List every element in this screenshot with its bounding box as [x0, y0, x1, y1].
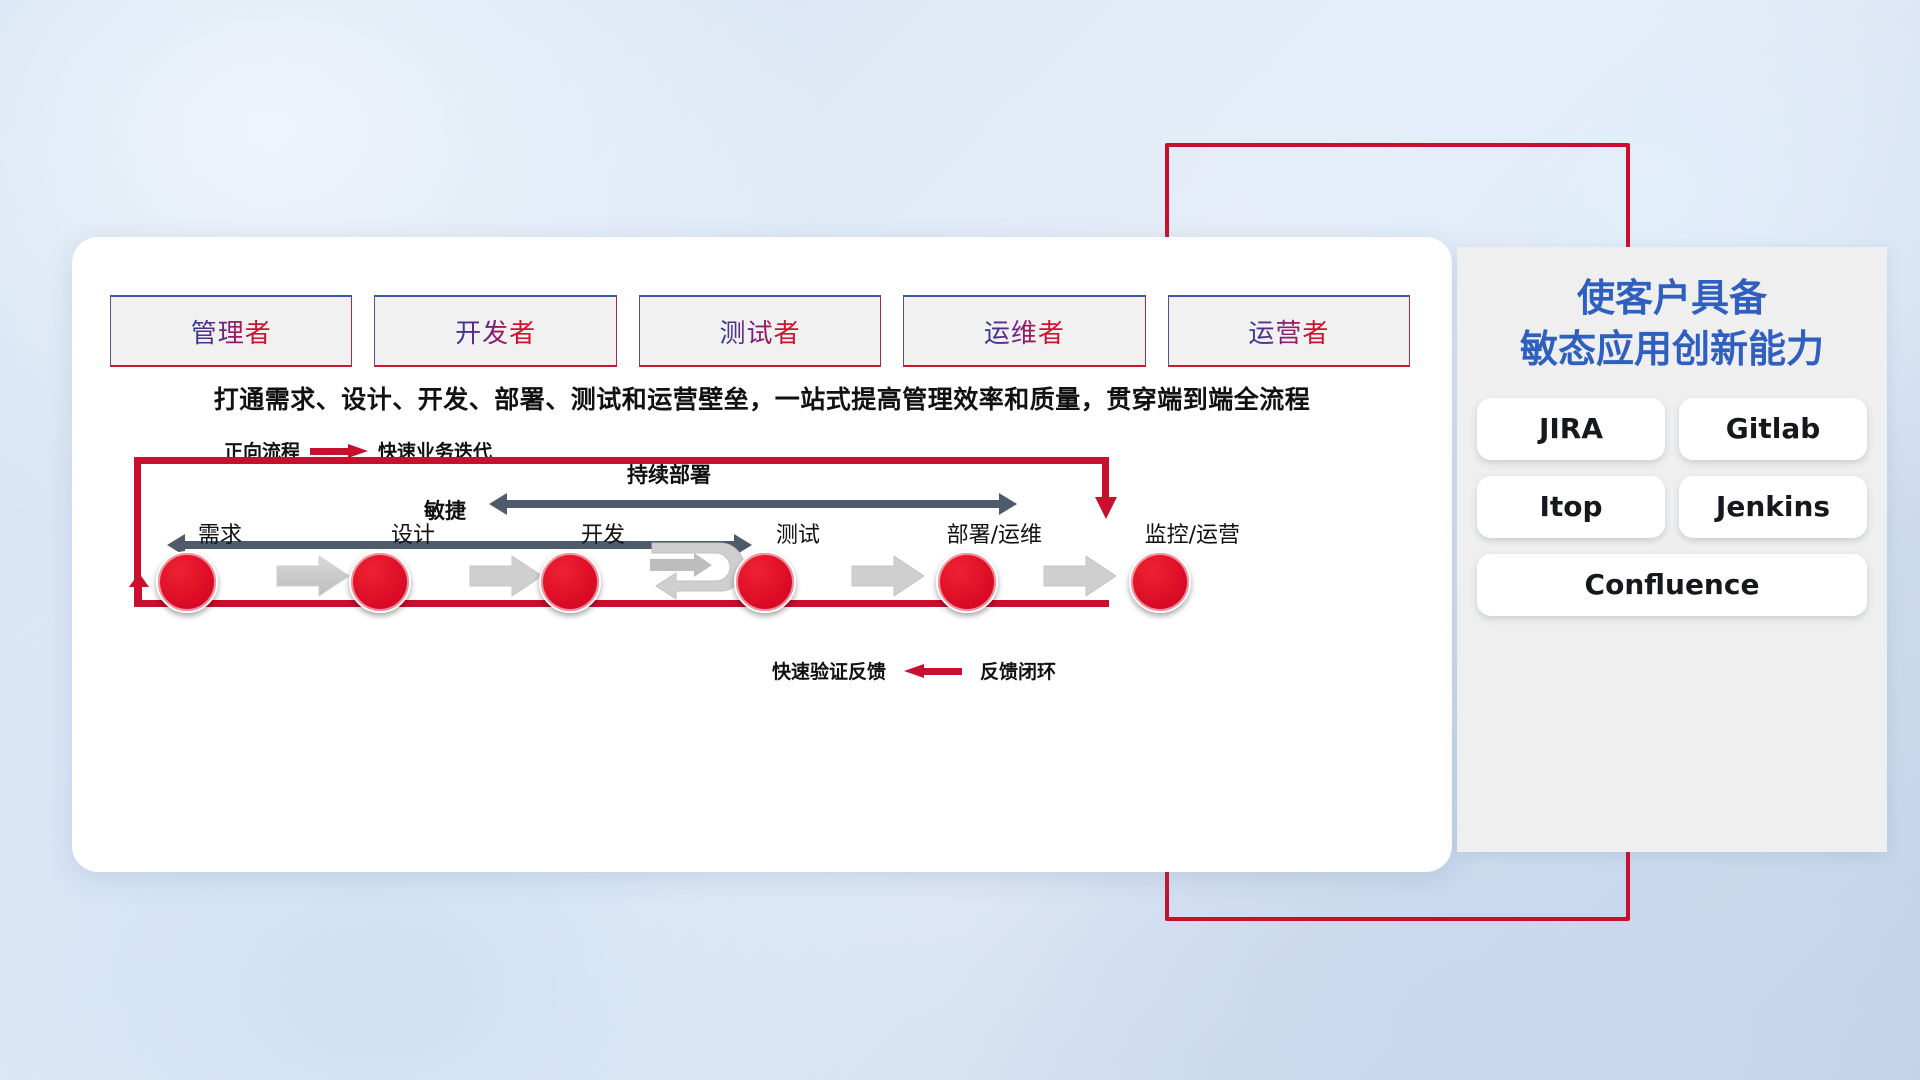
stage-dot — [936, 551, 998, 613]
stage-label: 需求 — [198, 517, 242, 549]
tools-panel: 使客户具备 敏态应用创新能力 JIRA Gitlab Itop Jenkins … — [1457, 247, 1887, 852]
tool-chip-jenkins[interactable]: Jenkins — [1679, 476, 1867, 538]
arrow-left-red-icon — [904, 664, 962, 678]
stage-label: 设计 — [391, 517, 435, 549]
arrow-stem — [1102, 457, 1109, 501]
role-label: 测试者 — [720, 313, 801, 350]
pipeline-stage-deploy-ops[interactable]: 部署/运维 — [892, 517, 1042, 613]
tool-chip-jira[interactable]: JIRA — [1477, 398, 1665, 460]
pipeline-stage-test[interactable]: 测试 — [710, 517, 820, 613]
tools-panel-title: 使客户具备 敏态应用创新能力 — [1457, 273, 1887, 376]
stage-label: 测试 — [776, 517, 820, 549]
tool-chip-itop[interactable]: Itop — [1477, 476, 1665, 538]
tools-title-line1: 使客户具备 — [1457, 273, 1887, 324]
description-text: 打通需求、设计、开发、部署、测试和运营壁垒，一站式提高管理效率和质量，贯穿端到端… — [72, 380, 1452, 416]
role-label: 运营者 — [1248, 313, 1329, 350]
role-box-ops[interactable]: 运维者 — [903, 295, 1145, 367]
devops-pipeline: 需求 设计 开发 — [110, 517, 1420, 637]
tool-chip-gitlab[interactable]: Gitlab — [1679, 398, 1867, 460]
stage-dot — [1129, 551, 1191, 613]
arrow-right-red-icon — [310, 444, 368, 458]
legend-feedback-loop: 快速验证反馈 反馈闭环 — [772, 657, 1056, 684]
pipeline-stage-development[interactable]: 开发 — [515, 517, 625, 613]
tools-grid: JIRA Gitlab Itop Jenkins Confluence — [1471, 398, 1873, 616]
pipeline-stage-design[interactable]: 设计 — [325, 517, 435, 613]
stage-label: 开发 — [581, 517, 625, 549]
stage-dot — [734, 551, 796, 613]
tools-title-line2: 敏态应用创新能力 — [1457, 324, 1887, 375]
devops-main-card: 管理者 开发者 测试者 运维者 运营者 打通需求、设计、开发、部署、测试和运营壁… — [72, 237, 1452, 872]
pipeline-stage-requirement[interactable]: 需求 — [132, 517, 242, 613]
role-box-operations[interactable]: 运营者 — [1168, 295, 1410, 367]
role-box-manager[interactable]: 管理者 — [110, 295, 352, 367]
arrow-head-down-icon — [1095, 497, 1117, 519]
stage-label: 监控/运营 — [1145, 517, 1240, 549]
stage-dot — [349, 551, 411, 613]
role-label: 开发者 — [455, 313, 536, 350]
role-label: 运维者 — [984, 313, 1065, 350]
stage-dot — [539, 551, 601, 613]
loop-down-arrow-icon — [1102, 457, 1116, 523]
legend-feedback-left-label: 快速验证反馈 — [772, 657, 886, 684]
legend-feedback-right-label: 反馈闭环 — [980, 657, 1056, 684]
role-label: 管理者 — [191, 313, 272, 350]
pipeline-stage-monitor-operations[interactable]: 监控/运营 — [1080, 517, 1240, 613]
tool-chip-confluence[interactable]: Confluence — [1477, 554, 1867, 616]
role-box-tester[interactable]: 测试者 — [639, 295, 881, 367]
role-box-developer[interactable]: 开发者 — [374, 295, 616, 367]
stage-label: 部署/运维 — [947, 517, 1042, 549]
stage-dot — [156, 551, 218, 613]
role-boxes-row: 管理者 开发者 测试者 运维者 运营者 — [110, 295, 1410, 367]
